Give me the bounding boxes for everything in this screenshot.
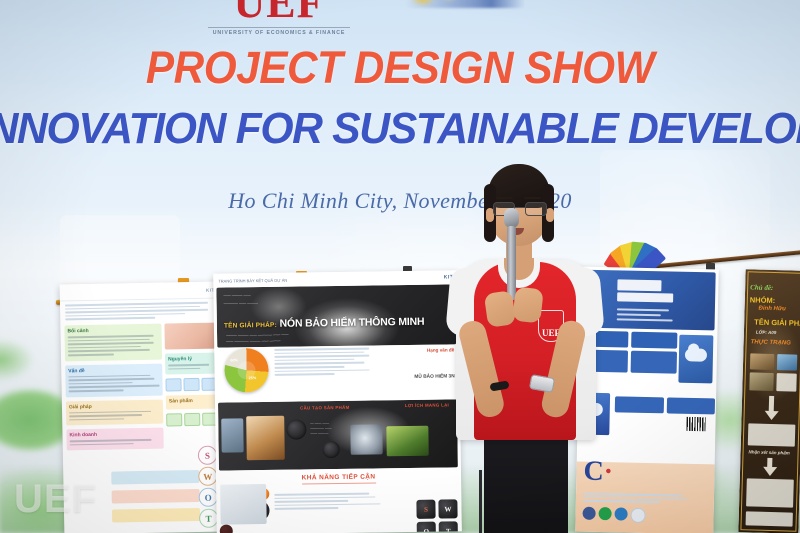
poster-center-access-label: KHẢ NĂNG TIẾP CẬN	[216, 472, 461, 482]
poster-center-structure-label: CẦU TẠO SẢN PHẨM	[300, 405, 350, 411]
uef-logo-rule	[208, 27, 350, 28]
poster-center-gauge-chart: 60% 25%	[224, 348, 269, 393]
poster-right-chip-1	[617, 279, 661, 291]
poster-right-box-c	[615, 396, 664, 413]
poster-left-side-block-principle: Nguyên lý	[165, 353, 217, 375]
poster-left-icon-row-1	[165, 378, 217, 392]
glasses-icon	[493, 202, 545, 214]
flow-arrow-down-1	[764, 411, 778, 420]
poster-far-line-4: TÊN GIẢI PHÁP	[754, 317, 800, 328]
flow-arrow-stem-1	[769, 396, 774, 412]
poster-center-footer-text	[274, 492, 380, 511]
sdg-partner-logos	[405, 0, 525, 8]
banner-subtitle-location-date: Ho Chi Minh City, November 6, 2020	[0, 188, 800, 214]
poster-center-eyebrow: TRANG TRÌNH BÀY KẾT QUẢ DỰ ÁN	[218, 277, 287, 283]
qr-code-icon	[686, 417, 705, 431]
flow-arrow-down-2	[763, 467, 777, 476]
student-presenter: UEF	[438, 170, 613, 533]
banner-title-secondary: INNOVATION FOR SUSTAINABLE DEVELOPMENT	[0, 104, 800, 154]
poster-left-swot-w: W	[198, 467, 217, 486]
poster-far-box-3	[746, 478, 794, 507]
poster-right-line-2	[617, 313, 661, 315]
poster-center-gauge-label-2: 25%	[249, 376, 257, 380]
poster-far-line-1: Chủ đề:	[750, 283, 773, 292]
poster-left-block-solution-title: Giải pháp	[69, 402, 160, 410]
poster-far-box-2	[748, 423, 796, 446]
presenter-ear-right	[546, 208, 554, 222]
poster-far-line-6: THỰC TRẠNG	[751, 339, 791, 346]
poster-center-swot-o: O	[417, 522, 436, 533]
poster-far-box-4	[746, 511, 793, 526]
poster-far-line-5: LỚP: A09	[756, 330, 776, 336]
microphone-body	[507, 226, 516, 300]
poster-left-icon-e	[184, 413, 200, 426]
instagram-icon	[630, 508, 645, 523]
poster-right-box-d	[666, 397, 715, 414]
poster-left-main-column: Bối cảnh Vấn đề Giải pháp Kinh doanh	[64, 324, 163, 455]
poster-left-icon-b	[183, 378, 199, 391]
poster-center-footer: KHẢ NĂNG TIẾP CẬN S W O T	[216, 469, 462, 533]
poster-center-photo-helmet	[246, 416, 285, 461]
banner-title-primary: PROJECT DESIGN SHOW	[24, 42, 776, 94]
poster-left-block-solution: Giải pháp	[66, 399, 163, 426]
poster-left-icon-d	[166, 413, 182, 426]
uef-logo-mark: UEF	[194, 0, 364, 24]
poster-left-icon-row-2	[166, 413, 218, 427]
poster-left-swot-s: S	[198, 446, 217, 465]
poster-left-side-block-product: Sản phẩm	[166, 395, 218, 410]
poster-center-solution-label: TÊN GIẢI PHÁP:	[224, 322, 277, 330]
poster-left-block-problem-title: Vấn đề	[68, 366, 159, 374]
poster-right-chip-2	[617, 292, 673, 302]
poster-far-line-2: NHÓM:	[750, 295, 776, 305]
poster-center-detail-band: CẦU TẠO SẢN PHẨM LỢI ÍCH MANG LẠI — —— —…	[218, 399, 458, 470]
poster-right-line-3	[617, 318, 673, 321]
poster-center-text-col	[274, 347, 374, 377]
poster-far-box-1	[776, 373, 796, 392]
poster-left-swot-t: T	[199, 509, 218, 528]
poster-left-swot-o: O	[199, 488, 218, 507]
poster-left-block-context: Bối cảnh	[64, 324, 162, 361]
cloud-icon	[685, 348, 707, 361]
poster-left-side-block-principle-title: Nguyên lý	[168, 356, 214, 363]
event-photo-stage: UEF UNIVERSITY OF ECONOMICS & FINANCE PR…	[0, 0, 800, 533]
poster-right-line-1	[617, 308, 669, 311]
poster-right-cloud-card	[678, 335, 713, 384]
poster-center-photo-bike	[386, 426, 428, 457]
poster-center-solution-name: NÓN BẢO HIỂM THÔNG MINH	[280, 316, 425, 330]
glasses-lens-right	[525, 202, 547, 216]
poster-right-cloud-bg	[678, 335, 713, 384]
poster-left-block-business: Kinh doanh	[66, 428, 163, 451]
project-poster-center[interactable]: TRANG TRÌNH BÀY KẾT QUẢ DỰ ÁN KIT —— ———…	[213, 270, 462, 533]
project-poster-far-right[interactable]: Chủ đề: NHÓM: Đinh Hữu TÊN GIẢI PHÁP LỚP…	[738, 269, 800, 533]
poster-left-side-column: Nguyên lý Sản phẩm	[164, 323, 218, 453]
presenter-hand-right	[512, 287, 543, 324]
presenter-leg-split	[479, 470, 482, 533]
presenter-hand-left	[484, 290, 516, 328]
poster-center-band-text: — —— —————— ———— ———	[310, 421, 368, 437]
poster-left-photo	[164, 323, 216, 350]
poster-left-swot-band-s	[111, 470, 199, 485]
poster-center-diagram	[220, 484, 267, 525]
uef-watermark: UEF	[14, 479, 97, 519]
poster-far-photo-3	[749, 372, 773, 391]
microphone-head	[504, 208, 519, 228]
poster-center-title: TÊN GIẢI PHÁP: NÓN BẢO HIỂM THÔNG MINH	[224, 316, 425, 331]
poster-left-side-block-product-title: Sản phẩm	[169, 398, 215, 405]
poster-center-knob-2	[323, 441, 340, 458]
poster-left-swot-band-w	[112, 489, 200, 504]
uef-logo-subtitle: UNIVERSITY OF ECONOMICS & FINANCE	[194, 30, 364, 36]
presenter-legs	[484, 432, 568, 533]
uef-logo: UEF UNIVERSITY OF ECONOMICS & FINANCE	[194, 0, 364, 36]
poster-left-block-context-title: Bối cảnh	[67, 327, 158, 335]
poster-center-swot-s: S	[416, 500, 435, 519]
poster-center-photo-1	[221, 418, 243, 452]
poster-far-photo-1	[750, 353, 774, 370]
poster-left-swot-band-o	[112, 508, 200, 523]
poster-center-access-rule	[302, 482, 376, 484]
poster-center-red-dot	[220, 524, 233, 533]
poster-right-card-b	[631, 332, 677, 349]
poster-left-body: Bối cảnh Vấn đề Giải pháp Kinh doanh	[60, 322, 222, 455]
poster-far-photo-2	[777, 354, 797, 371]
poster-left-intro-text	[60, 298, 220, 325]
twitter-icon	[614, 507, 627, 520]
poster-right-card-row-3	[612, 393, 718, 417]
microphone-icon	[504, 208, 519, 300]
poster-far-line-3: Đinh Hữu	[759, 306, 786, 313]
poster-center-hero: —— ——— —— ———— —— ——— TÊN GIẢI PHÁP: NÓN…	[216, 284, 456, 347]
poster-center-gauge-label-1: 60%	[230, 358, 238, 362]
poster-left-block-problem: Vấn đề	[65, 363, 163, 397]
poster-center-knob-1	[286, 419, 306, 439]
poster-left-block-business-title: Kinh doanh	[69, 431, 160, 439]
poster-left-icon-a	[165, 378, 181, 391]
poster-right-box-b	[631, 351, 677, 374]
